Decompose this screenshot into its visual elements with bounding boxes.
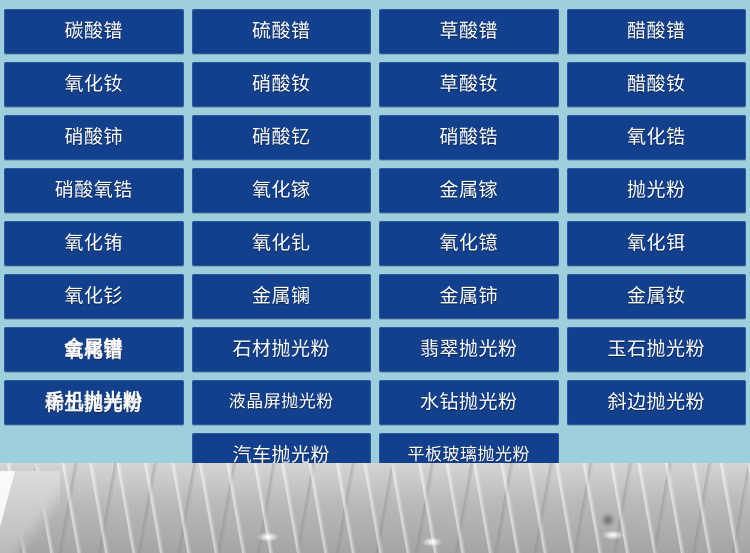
category-button[interactable]: 氧化钆 (192, 221, 372, 266)
factory-interior-image (0, 463, 750, 553)
category-button-label: 硝酸铈 (64, 128, 123, 147)
grid-cell: 斜边抛光粉 (563, 376, 750, 429)
grid-cell: 碳酸镨 (0, 5, 188, 58)
category-button-label: 醋酸镨 (627, 22, 686, 41)
category-button-label: 玉石抛光粉 (607, 340, 705, 359)
category-button-label: 金属镓 (439, 181, 498, 200)
category-button-label: 斜边抛光粉 (607, 393, 705, 412)
category-button-label: 硝酸氧锆 (55, 181, 133, 200)
grid-cell: 金属钕 (563, 270, 750, 323)
grid-cell: 金属镓 (375, 164, 563, 217)
category-button-label: 氧化钕 (64, 75, 123, 94)
grid-cell: 氧化钕 (0, 58, 188, 111)
grid-cell: 硫酸镨 (188, 5, 376, 58)
grid-cell: 石材抛光粉 (188, 323, 376, 376)
grid-cell: 氧化钐 (0, 270, 188, 323)
category-button-label-overlay: 稀土抛光粉 (5, 395, 183, 414)
grid-row: 金属镨氧化镨石材抛光粉翡翠抛光粉玉石抛光粉 (0, 323, 750, 376)
grid-row: 氧化钐金属镧金属铈金属钕 (0, 270, 750, 323)
category-button[interactable]: 氧化镓 (192, 168, 372, 213)
grid-cell: 氧化钆 (188, 217, 376, 270)
category-button[interactable]: 氧化钐 (4, 274, 184, 319)
category-button-label: 醋酸钕 (627, 75, 686, 94)
category-button[interactable]: 玉石抛光粉 (567, 327, 747, 372)
category-button-label: 金属镧 (252, 287, 311, 306)
category-button[interactable]: 硫酸镨 (192, 9, 372, 54)
category-button[interactable]: 醋酸镨 (567, 9, 747, 54)
grid-row: 氧化铕氧化钆氧化镱氧化铒 (0, 217, 750, 270)
category-button[interactable]: 氧化镱 (379, 221, 559, 266)
warehouse-support-column (0, 471, 60, 553)
category-button-label: 氧化铕 (64, 234, 123, 253)
product-category-grid: 碳酸镨硫酸镨草酸镨醋酸镨氧化钕硝酸钕草酸钕醋酸钕硝酸铈硝酸钇硝酸锆氧化锆硝酸氧锆… (0, 0, 750, 482)
category-button-label: 草酸镨 (439, 22, 498, 41)
category-button[interactable]: 手机抛光粉稀土抛光粉 (4, 380, 184, 425)
grid-row: 硝酸氧锆氧化镓金属镓抛光粉 (0, 164, 750, 217)
grid-cell: 硝酸锆 (375, 111, 563, 164)
grid-row: 氧化钕硝酸钕草酸钕醋酸钕 (0, 58, 750, 111)
product-category-page: 碳酸镨硫酸镨草酸镨醋酸镨氧化钕硝酸钕草酸钕醋酸钕硝酸铈硝酸钇硝酸锆氧化锆硝酸氧锆… (0, 0, 750, 553)
category-button[interactable]: 氧化铕 (4, 221, 184, 266)
category-button-label: 石材抛光粉 (232, 340, 330, 359)
category-button[interactable]: 金属镓 (379, 168, 559, 213)
category-button[interactable]: 硝酸锆 (379, 115, 559, 160)
grid-cell: 氧化锆 (563, 111, 750, 164)
category-button-label: 抛光粉 (627, 181, 686, 200)
category-button-label-overlay: 氧化镨 (5, 342, 183, 361)
category-button[interactable]: 硝酸钕 (192, 62, 372, 107)
grid-cell: 醋酸钕 (563, 58, 750, 111)
grid-cell: 金属镧 (188, 270, 376, 323)
grid-cell: 翡翠抛光粉 (375, 323, 563, 376)
category-button-label: 金属铈 (439, 287, 498, 306)
grid-cell: 液晶屏抛光粉 (188, 376, 376, 429)
category-button[interactable]: 草酸镨 (379, 9, 559, 54)
category-button[interactable]: 斜边抛光粉 (567, 380, 747, 425)
category-button[interactable]: 翡翠抛光粉 (379, 327, 559, 372)
category-button[interactable]: 水钻抛光粉 (379, 380, 559, 425)
category-button[interactable]: 液晶屏抛光粉 (192, 380, 372, 425)
grid-cell: 硝酸铈 (0, 111, 188, 164)
grid-cell: 氧化镓 (188, 164, 376, 217)
grid-cell: 金属铈 (375, 270, 563, 323)
grid-row: 碳酸镨硫酸镨草酸镨醋酸镨 (0, 5, 750, 58)
category-button-label: 金属钕 (627, 287, 686, 306)
category-button[interactable]: 金属镧 (192, 274, 372, 319)
category-button[interactable]: 氧化铒 (567, 221, 747, 266)
category-button-label: 氧化锆 (627, 128, 686, 147)
category-button[interactable]: 草酸钕 (379, 62, 559, 107)
category-button-label: 氧化钆 (252, 234, 311, 253)
category-button[interactable]: 金属铈 (379, 274, 559, 319)
category-button-label: 氧化镱 (439, 234, 498, 253)
grid-cell: 硝酸氧锆 (0, 164, 188, 217)
grid-cell: 草酸镨 (375, 5, 563, 58)
grid-cell: 氧化铕 (0, 217, 188, 270)
category-button-label: 平板玻璃抛光粉 (408, 447, 531, 464)
category-button[interactable]: 碳酸镨 (4, 9, 184, 54)
category-button-label: 硝酸钇 (252, 128, 311, 147)
category-button-label: 液晶屏抛光粉 (229, 394, 334, 411)
grid-cell: 醋酸镨 (563, 5, 750, 58)
category-button[interactable]: 氧化钕 (4, 62, 184, 107)
grid-cell: 手机抛光粉稀土抛光粉 (0, 376, 188, 429)
grid-row: 手机抛光粉稀土抛光粉液晶屏抛光粉水钻抛光粉斜边抛光粉 (0, 376, 750, 429)
grid-cell: 草酸钕 (375, 58, 563, 111)
category-button[interactable]: 硝酸铈 (4, 115, 184, 160)
category-button-label: 硫酸镨 (252, 22, 311, 41)
category-button[interactable]: 硝酸氧锆 (4, 168, 184, 213)
grid-cell: 氧化镱 (375, 217, 563, 270)
grid-cell: 氧化铒 (563, 217, 750, 270)
category-button-label: 水钻抛光粉 (420, 393, 518, 412)
category-button[interactable]: 金属镨氧化镨 (4, 327, 184, 372)
category-button-label: 硝酸锆 (439, 128, 498, 147)
category-button-label: 氧化镓 (252, 181, 311, 200)
grid-cell: 抛光粉 (563, 164, 750, 217)
category-button[interactable]: 金属钕 (567, 274, 747, 319)
category-button-label: 草酸钕 (439, 75, 498, 94)
category-button[interactable]: 抛光粉 (567, 168, 747, 213)
grid-cell: 水钻抛光粉 (375, 376, 563, 429)
category-button-label: 碳酸镨 (64, 22, 123, 41)
category-button[interactable]: 醋酸钕 (567, 62, 747, 107)
category-button-label: 氧化铒 (627, 234, 686, 253)
category-button-label: 氧化钐 (64, 287, 123, 306)
grid-cell: 硝酸钕 (188, 58, 376, 111)
grid-cell: 硝酸钇 (188, 111, 376, 164)
category-button[interactable]: 石材抛光粉 (192, 327, 372, 372)
category-button-label: 硝酸钕 (252, 75, 311, 94)
grid-cell: 金属镨氧化镨 (0, 323, 188, 376)
category-button-label: 翡翠抛光粉 (420, 340, 518, 359)
factory-photo-band (0, 463, 750, 553)
grid-row: 硝酸铈硝酸钇硝酸锆氧化锆 (0, 111, 750, 164)
grid-cell: 玉石抛光粉 (563, 323, 750, 376)
category-button[interactable]: 氧化锆 (567, 115, 747, 160)
category-button[interactable]: 硝酸钇 (192, 115, 372, 160)
